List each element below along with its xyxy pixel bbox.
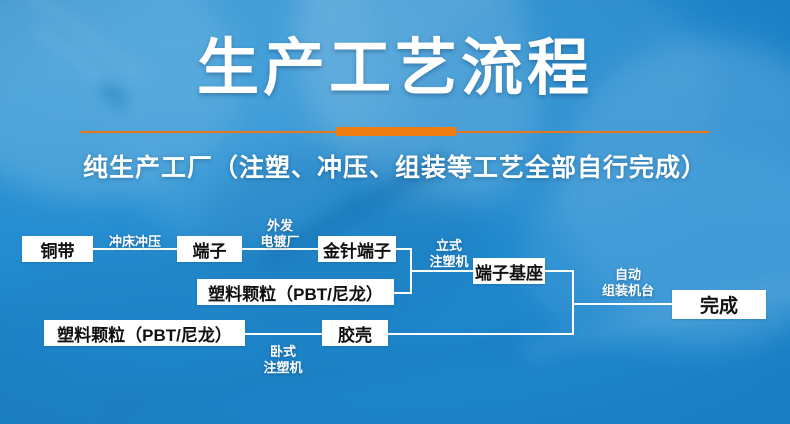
connector-merge-to-finished [572, 303, 672, 305]
node-terminal[interactable]: 端子 [177, 236, 242, 262]
node-plastic-pellets-top[interactable]: 塑料颗粒（PBT/尼龙） [197, 279, 394, 305]
node-plastic-pellets-bottom[interactable]: 塑料颗粒（PBT/尼龙） [44, 320, 245, 346]
poster-canvas: 生产工艺流程 纯生产工厂（注塑、冲压、组装等工艺全部自行完成） 冲床冲压 外发 … [0, 0, 790, 424]
edge-label-horizontal-molding: 卧式 注塑机 [258, 344, 308, 376]
edge-label-auto-assembly: 自动 组装机台 [590, 267, 666, 299]
node-finished[interactable]: 完成 [672, 290, 766, 319]
edge-label-outsourced-plating: 外发 电镀厂 [250, 218, 310, 250]
connector-merge-to-terminal-base [410, 270, 473, 272]
connector-pellets-bottom-to-shell [245, 333, 322, 335]
connector-shell-out [388, 333, 574, 335]
connector-terminal-base-out [545, 270, 574, 272]
node-terminal-base[interactable]: 端子基座 [473, 258, 545, 284]
node-copper-strip[interactable]: 铜带 [22, 236, 93, 262]
edge-label-vertical-molding: 立式 注塑机 [424, 238, 474, 270]
process-flow-diagram: 冲床冲压 外发 电镀厂 立式 注塑机 卧式 注塑机 自动 组装机台 铜带 端子 … [0, 0, 790, 424]
node-plastic-shell[interactable]: 胶壳 [322, 320, 388, 346]
node-gold-pin-terminal[interactable]: 金针端子 [318, 236, 396, 262]
edge-label-punch-press: 冲床冲压 [97, 234, 173, 250]
